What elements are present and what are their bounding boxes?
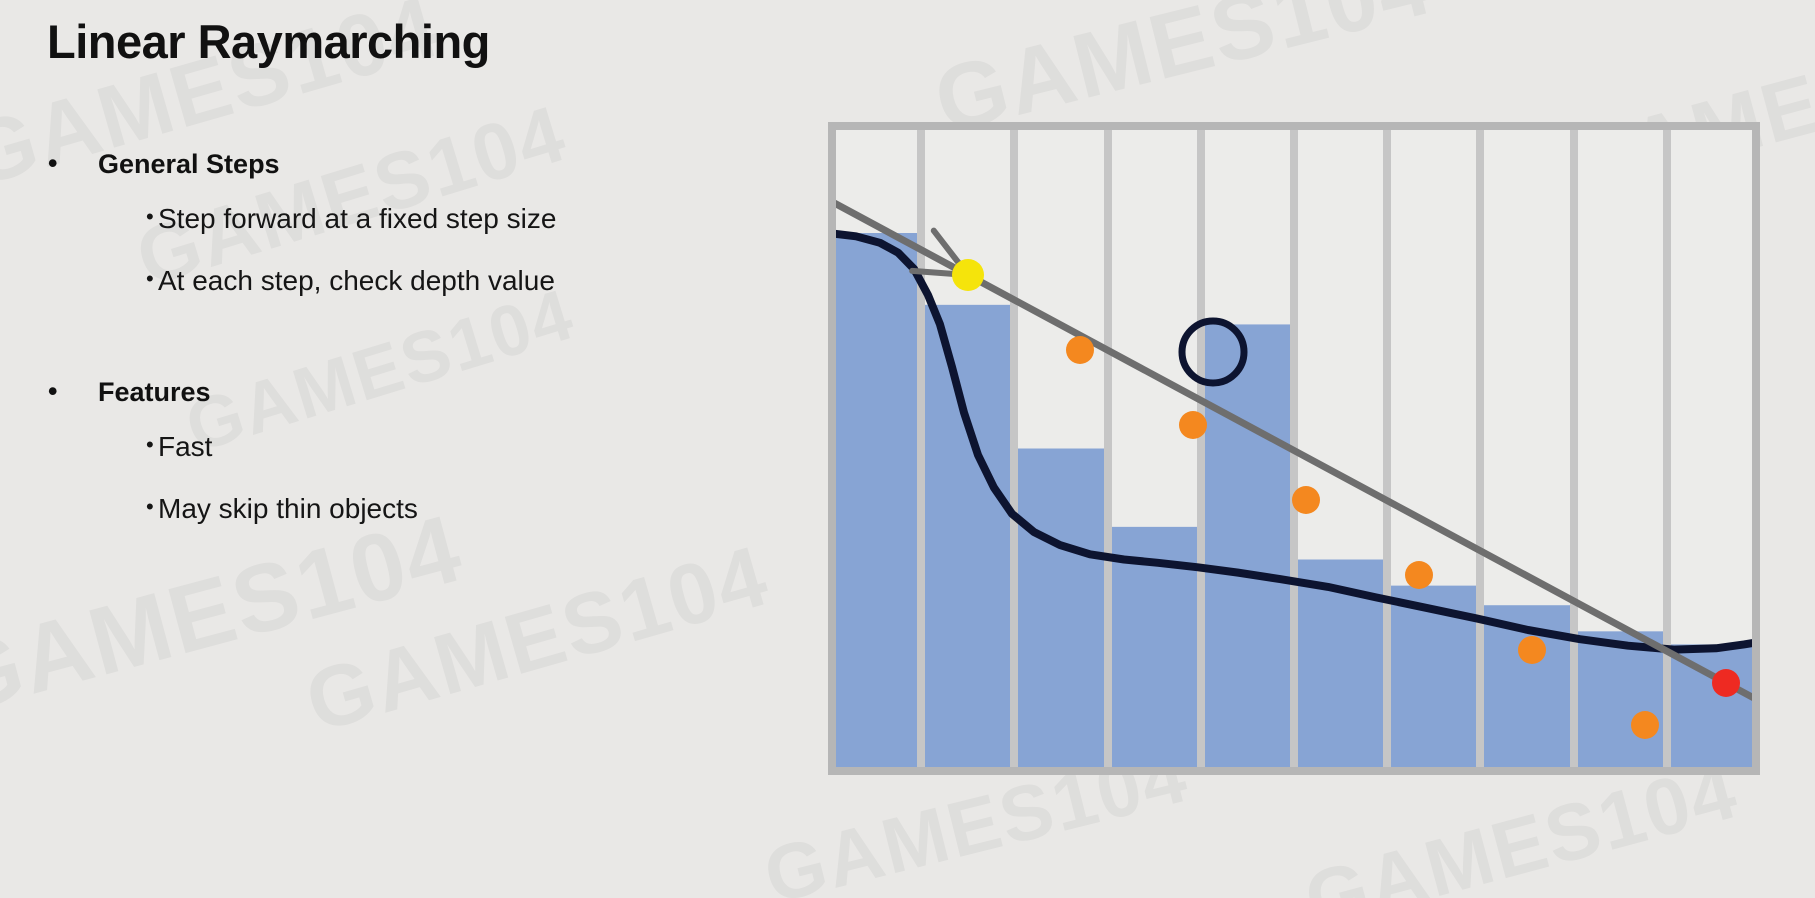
bullet-group-spacer	[40, 312, 740, 368]
depth-bar	[828, 233, 921, 775]
raymarching-diagram	[828, 122, 1760, 775]
bullet-group-general-steps: • General Steps • Step forward at a fixe…	[40, 140, 740, 312]
step-dot-5	[1518, 636, 1546, 664]
hit-dot	[1712, 669, 1740, 697]
raymarching-diagram-svg	[828, 122, 1760, 775]
bullet-fast-label: Fast	[158, 431, 212, 462]
column-separator	[1383, 122, 1391, 775]
column-separator	[1570, 122, 1578, 775]
depth-bar	[1201, 324, 1294, 775]
bullet-marker-icon: •	[146, 250, 154, 312]
bullet-features-label: Features	[98, 377, 211, 407]
column-separator	[1197, 122, 1205, 775]
bullet-general-steps-label: General Steps	[98, 149, 280, 179]
bullet-marker-icon: •	[48, 368, 57, 416]
column-separator	[917, 122, 925, 775]
depth-bar	[1574, 631, 1667, 775]
page-title: Linear Raymarching	[47, 14, 490, 69]
bullet-fast: • Fast	[40, 416, 740, 478]
column-separator	[1010, 122, 1018, 775]
bullet-check-depth-label: At each step, check depth value	[158, 265, 555, 296]
step-dot-4	[1405, 561, 1433, 589]
bullet-list: • General Steps • Step forward at a fixe…	[40, 140, 740, 540]
column-separator	[1476, 122, 1484, 775]
depth-bar	[1014, 449, 1108, 776]
depth-bar	[1667, 644, 1760, 775]
depth-bar	[921, 305, 1014, 775]
column-separator	[1663, 122, 1671, 775]
step-dot-1	[1066, 336, 1094, 364]
bullet-check-depth: • At each step, check depth value	[40, 250, 740, 312]
bullet-may-skip-thin-objects: • May skip thin objects	[40, 478, 740, 540]
step-dot-2	[1179, 411, 1207, 439]
column-separator	[1104, 122, 1112, 775]
bullet-marker-icon: •	[48, 140, 57, 188]
bullet-general-steps: • General Steps	[40, 140, 740, 188]
start-dot	[952, 259, 984, 291]
bullet-marker-icon: •	[146, 478, 154, 540]
step-dot-6	[1631, 711, 1659, 739]
bullet-marker-icon: •	[146, 188, 154, 250]
bullet-may-skip-thin-objects-label: May skip thin objects	[158, 493, 418, 524]
slide: GAMES104 GAMES104 GAMES104 GAMES104 GAME…	[0, 0, 1815, 898]
bullet-group-features: • Features • Fast • May skip thin object…	[40, 368, 740, 540]
bullet-marker-icon: •	[146, 416, 154, 478]
watermark-text: GAMES104	[296, 526, 780, 752]
bullet-step-forward: • Step forward at a fixed step size	[40, 188, 740, 250]
bullet-features: • Features	[40, 368, 740, 416]
bullet-step-forward-label: Step forward at a fixed step size	[158, 203, 556, 234]
step-dot-3	[1292, 486, 1320, 514]
